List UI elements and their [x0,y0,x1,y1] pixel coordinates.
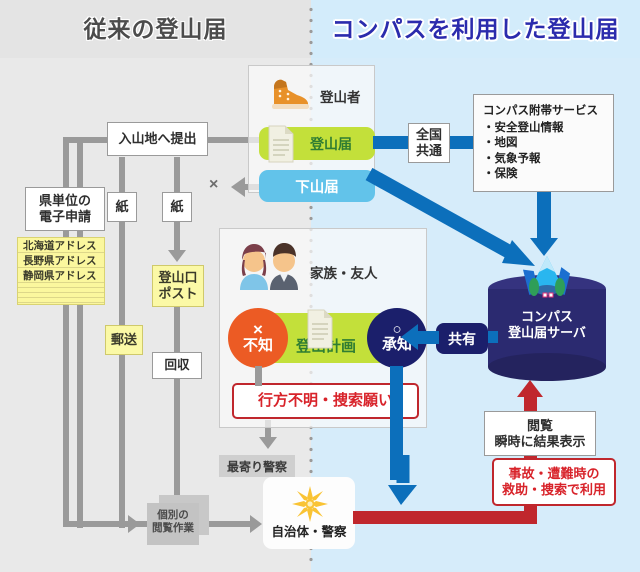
prefecture-eapplication-box[interactable]: 県単位の 電子申請 [25,187,105,231]
nearest-police-text: 最寄り警察 [227,458,287,475]
address-row: 北海道アドレス [18,238,104,253]
address-sticky-note: 北海道アドレス 長野県アドレス 静岡県アドレス [17,237,105,305]
right-title: コンパスを利用した登山届 [311,10,640,48]
paper-label-2: 紙 [170,199,183,215]
paper-label-1-box: 紙 [107,192,137,222]
compass-server-label: コンパス 登山届サーバ [488,309,606,342]
line-police-to-rescue [353,511,537,524]
submit-to-entry-box[interactable]: 入山地へ提出 [107,122,208,156]
line-submit-to-eapp [77,137,83,189]
arrow-descent-rejected [231,177,245,197]
arrow-work-to-police [250,515,262,533]
arrow-share-to-known [401,324,418,350]
arrow-view-to-server [517,380,543,397]
unknown-label: 不知 [243,338,273,355]
rejection-x-mark: × [209,176,218,194]
hiking-boot-icon [266,76,312,112]
collect-box[interactable]: 回収 [152,352,202,379]
instant-view-label: 閲覧 瞬時に結果表示 [494,418,585,450]
nearest-police-label: 最寄り警察 [219,455,295,477]
unknown-circle[interactable]: × 不知 [228,308,288,368]
rescue-use-box[interactable]: 事故・遭難時の 救助・捜索で利用 [492,458,616,506]
mail-box[interactable]: 郵送 [105,325,143,355]
individual-review-work-label: 個別の 閲覧作業 [145,501,201,543]
share-capsule: 共有 [436,323,488,354]
collect-label: 回収 [164,358,189,373]
document-icon [266,124,296,164]
line-submission-to-nationwide [373,136,408,149]
trailhead-post-label: 登山口 ポスト [158,270,197,302]
missing-person-notice-label: 行方不明・捜索願い [258,392,393,411]
instant-view-box[interactable]: 閲覧 瞬時に結果表示 [484,411,596,456]
climber-panel-label: 登山者 [320,86,361,106]
mail-label: 郵送 [111,332,137,348]
unknown-mark: × [253,321,263,338]
line-collect-down [174,378,180,508]
municipality-police-label: 自治体・警察 [271,521,346,540]
climb-submission-label: 登山届 [310,134,352,154]
arrow-paper2-to-post [168,250,186,262]
nationwide-common-label: 全国 共通 [416,127,442,159]
paper-label-1: 紙 [115,199,128,215]
address-blank-row [18,298,104,303]
mountain-logo-icon [518,254,576,302]
cylinder-bottom [488,353,606,381]
service-item: ・地図 [483,136,604,151]
line-post-to-collect [174,307,180,355]
individual-review-work-shape[interactable]: 個別の 閲覧作業 [147,495,209,545]
address-row: 長野県アドレス [18,253,104,268]
police-badge-icon [291,485,329,523]
left-title: 従来の登山届 [0,10,311,48]
document-icon [305,308,335,350]
service-item: ・安全登山情報 [483,121,604,136]
address-row: 静岡県アドレス [18,268,104,283]
line-share-to-known [417,331,439,344]
line-unknown-to-missing [255,366,262,386]
prefecture-eapplication-label: 県単位の 電子申請 [39,193,91,225]
two-people-icon [238,240,300,290]
rescue-use-label: 事故・遭難時の 救助・捜索で利用 [502,466,606,499]
compass-services-title: コンパス附帯サービス [483,102,604,118]
share-label: 共有 [448,329,476,349]
descent-report-capsule[interactable]: 下山届 [259,170,375,202]
line-submit-to-left [63,137,111,143]
diagram-canvas: 従来の登山届 コンパスを利用した登山届 × 入山地へ提出 県単位の 電子申請 北… [0,0,640,572]
nationwide-common-box: 全国 共通 [408,123,450,163]
line-nationwide-to-service [450,136,474,149]
arrow-missing-to-police [259,437,277,449]
trailhead-post-box[interactable]: 登山口 ポスト [152,265,204,307]
municipality-police-card[interactable]: 自治体・警察 [263,477,355,549]
paper-label-2-box: 紙 [162,192,192,222]
arrow-known-to-police [355,455,425,515]
descent-report-label: 下山届 [295,176,339,197]
service-item: ・気象予報 [483,152,604,167]
submit-to-entry-label: 入山地へ提出 [118,131,196,147]
